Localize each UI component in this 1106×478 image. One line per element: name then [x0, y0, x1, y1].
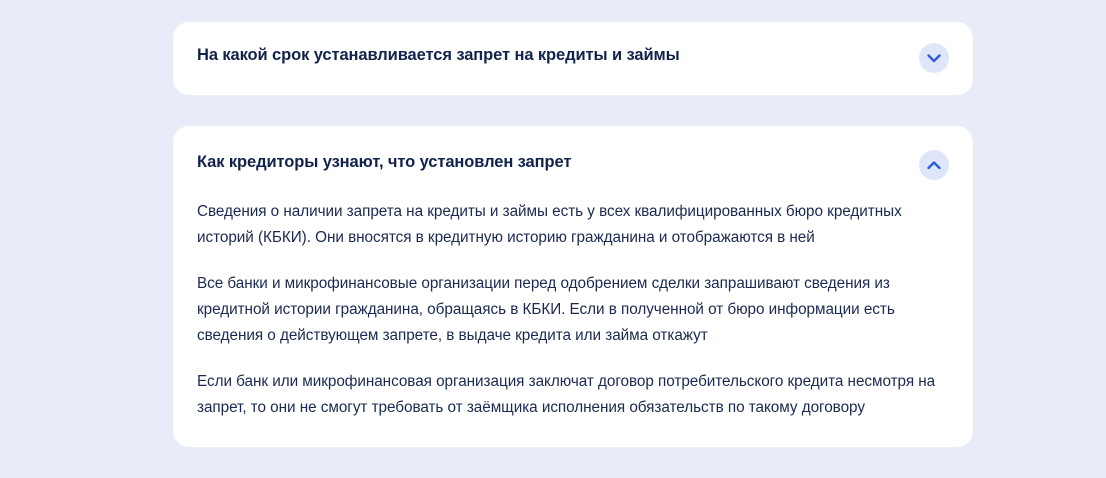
faq-accordion-list: На какой срок устанавливается запрет на … [173, 22, 973, 478]
accordion-title: Как кредиторы узнают, что установлен зап… [197, 150, 903, 173]
chevron-up-icon[interactable] [919, 150, 949, 180]
body-paragraph: Все банки и микрофинансовые организации … [197, 271, 949, 349]
page-root: На какой срок устанавливается запрет на … [0, 0, 1106, 417]
accordion-title: На какой срок устанавливается запрет на … [197, 43, 903, 66]
accordion-item-collapsed[interactable]: На какой срок устанавливается запрет на … [173, 22, 973, 95]
accordion-item-expanded[interactable]: Как кредиторы узнают, что установлен зап… [173, 126, 973, 447]
accordion-body: Сведения о наличии запрета на кредиты и … [197, 199, 949, 421]
chevron-down-icon[interactable] [919, 43, 949, 73]
accordion-header[interactable]: Как кредиторы узнают, что установлен зап… [197, 150, 949, 180]
accordion-header[interactable]: На какой срок устанавливается запрет на … [197, 43, 949, 73]
body-paragraph: Сведения о наличии запрета на кредиты и … [197, 199, 949, 251]
body-paragraph: Если банк или микрофинансовая организаци… [197, 369, 949, 421]
